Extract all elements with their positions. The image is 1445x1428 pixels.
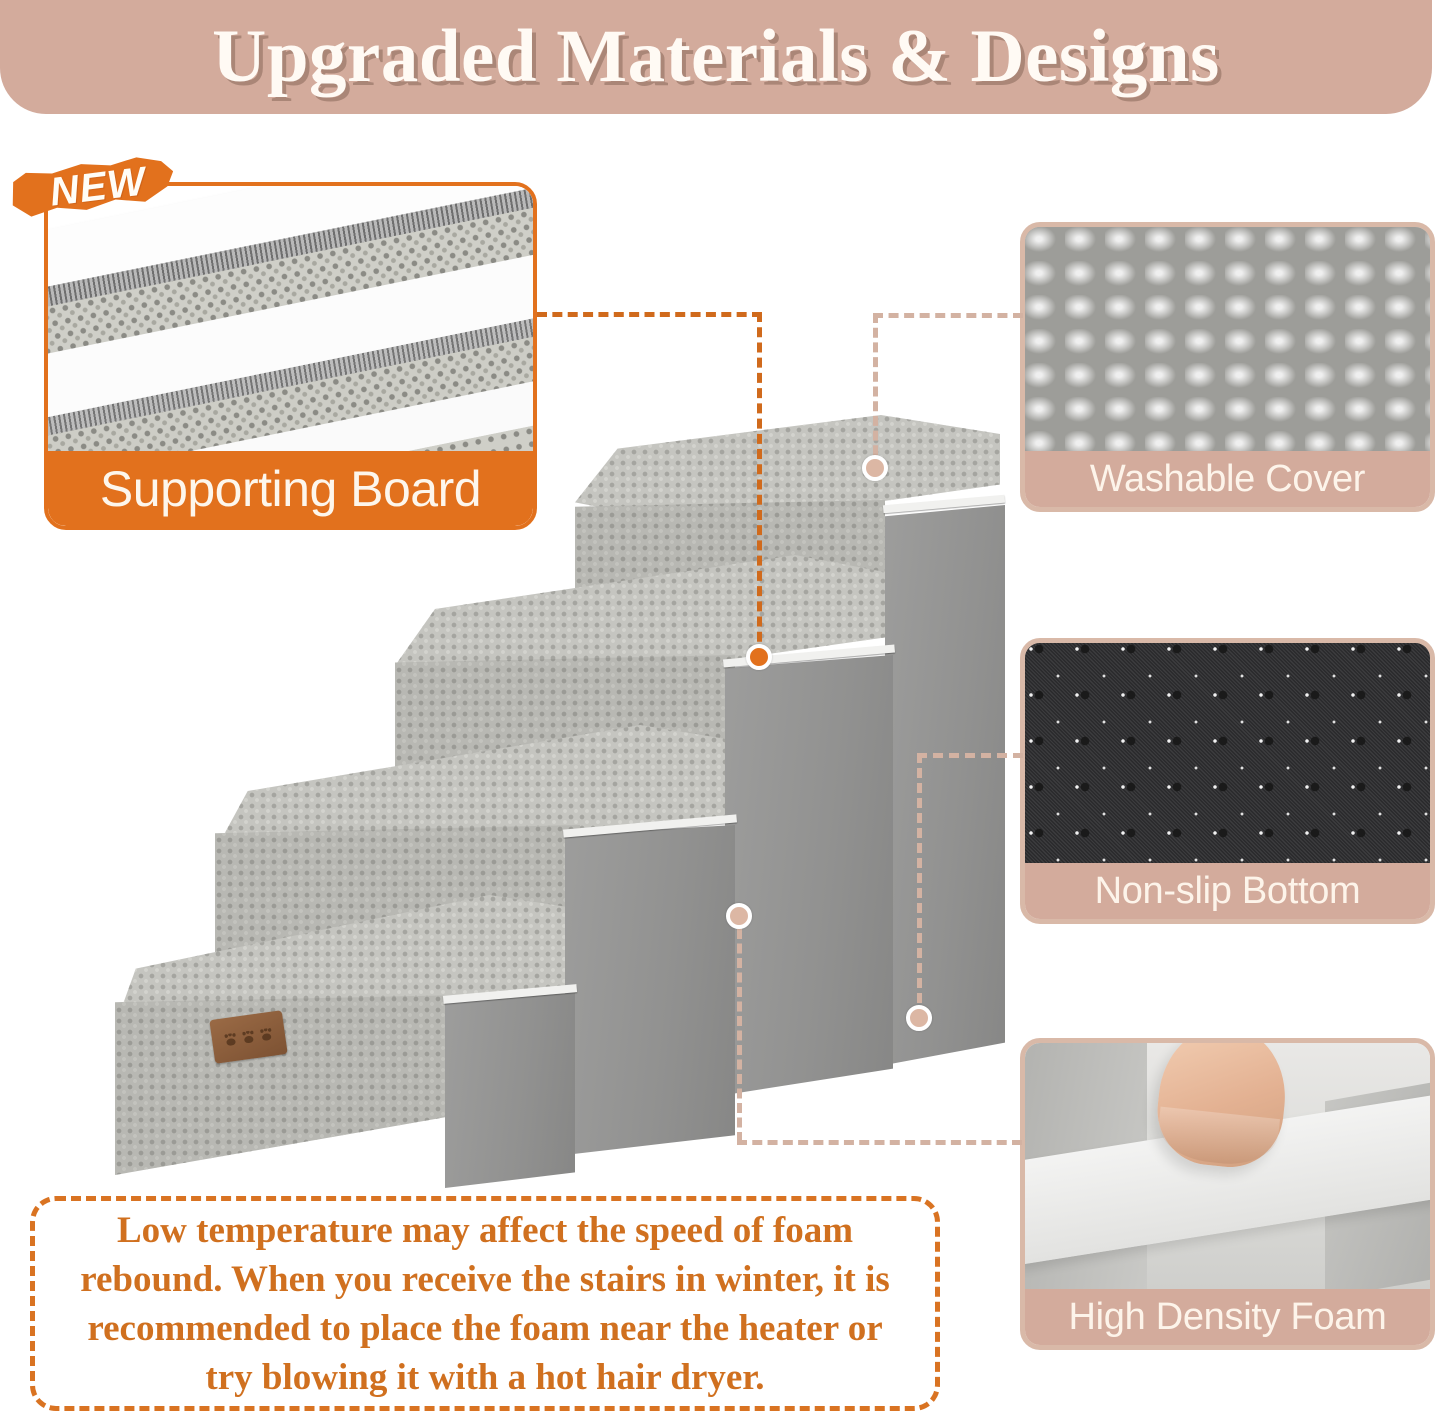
nonslip-texture bbox=[1025, 643, 1430, 863]
connector-nonslip-horizontal bbox=[917, 753, 1023, 758]
high-density-foam-photo bbox=[1025, 1043, 1430, 1289]
connector-nonslip-vertical bbox=[917, 753, 922, 1018]
connector-supporting-board-horizontal bbox=[537, 312, 762, 317]
connector-washable-horizontal bbox=[873, 313, 1023, 318]
side-panel-step3 bbox=[725, 655, 893, 1095]
paw-print-icon bbox=[223, 1032, 238, 1047]
step-riser-1 bbox=[115, 995, 465, 1175]
connector-dot-nonslip-bottom bbox=[906, 1005, 932, 1031]
warning-note-box: Low temperature may affect the speed of … bbox=[30, 1196, 940, 1411]
product-image-pet-stairs bbox=[95, 405, 1025, 1185]
connector-foam-vertical bbox=[737, 929, 742, 1142]
panel-high-density-foam: High Density Foam bbox=[1020, 1038, 1435, 1350]
new-badge: NEW bbox=[4, 152, 184, 220]
connector-supporting-board-vertical bbox=[757, 312, 762, 657]
warning-note-text: Low temperature may affect the speed of … bbox=[61, 1206, 909, 1402]
nonslip-bottom-photo bbox=[1025, 643, 1430, 863]
washable-cover-photo bbox=[1025, 227, 1430, 451]
connector-dot-washable-cover bbox=[862, 455, 888, 481]
high-density-foam-caption: High Density Foam bbox=[1025, 1289, 1430, 1345]
connector-foam-horizontal bbox=[737, 1140, 1022, 1145]
side-panel-upper bbox=[885, 505, 1005, 1065]
washable-cover-caption: Washable Cover bbox=[1025, 451, 1430, 507]
side-panel-step1 bbox=[445, 993, 575, 1188]
connector-dot-high-density-foam bbox=[726, 903, 752, 929]
foam-scene bbox=[1025, 1043, 1430, 1289]
paw-print-icon bbox=[241, 1030, 256, 1045]
panel-nonslip-bottom: Non-slip Bottom bbox=[1020, 638, 1435, 924]
page-title: Upgraded Materials & Designs bbox=[0, 0, 1432, 114]
connector-dot-supporting-board bbox=[746, 644, 772, 670]
paw-print-icon bbox=[259, 1027, 274, 1042]
panel-washable-cover: Washable Cover bbox=[1020, 222, 1435, 512]
fabric-texture bbox=[1025, 227, 1430, 451]
nonslip-bottom-caption: Non-slip Bottom bbox=[1025, 863, 1430, 919]
side-panel-step2 bbox=[565, 825, 735, 1155]
new-badge-label: NEW bbox=[26, 156, 171, 219]
connector-washable-vertical bbox=[873, 313, 878, 470]
